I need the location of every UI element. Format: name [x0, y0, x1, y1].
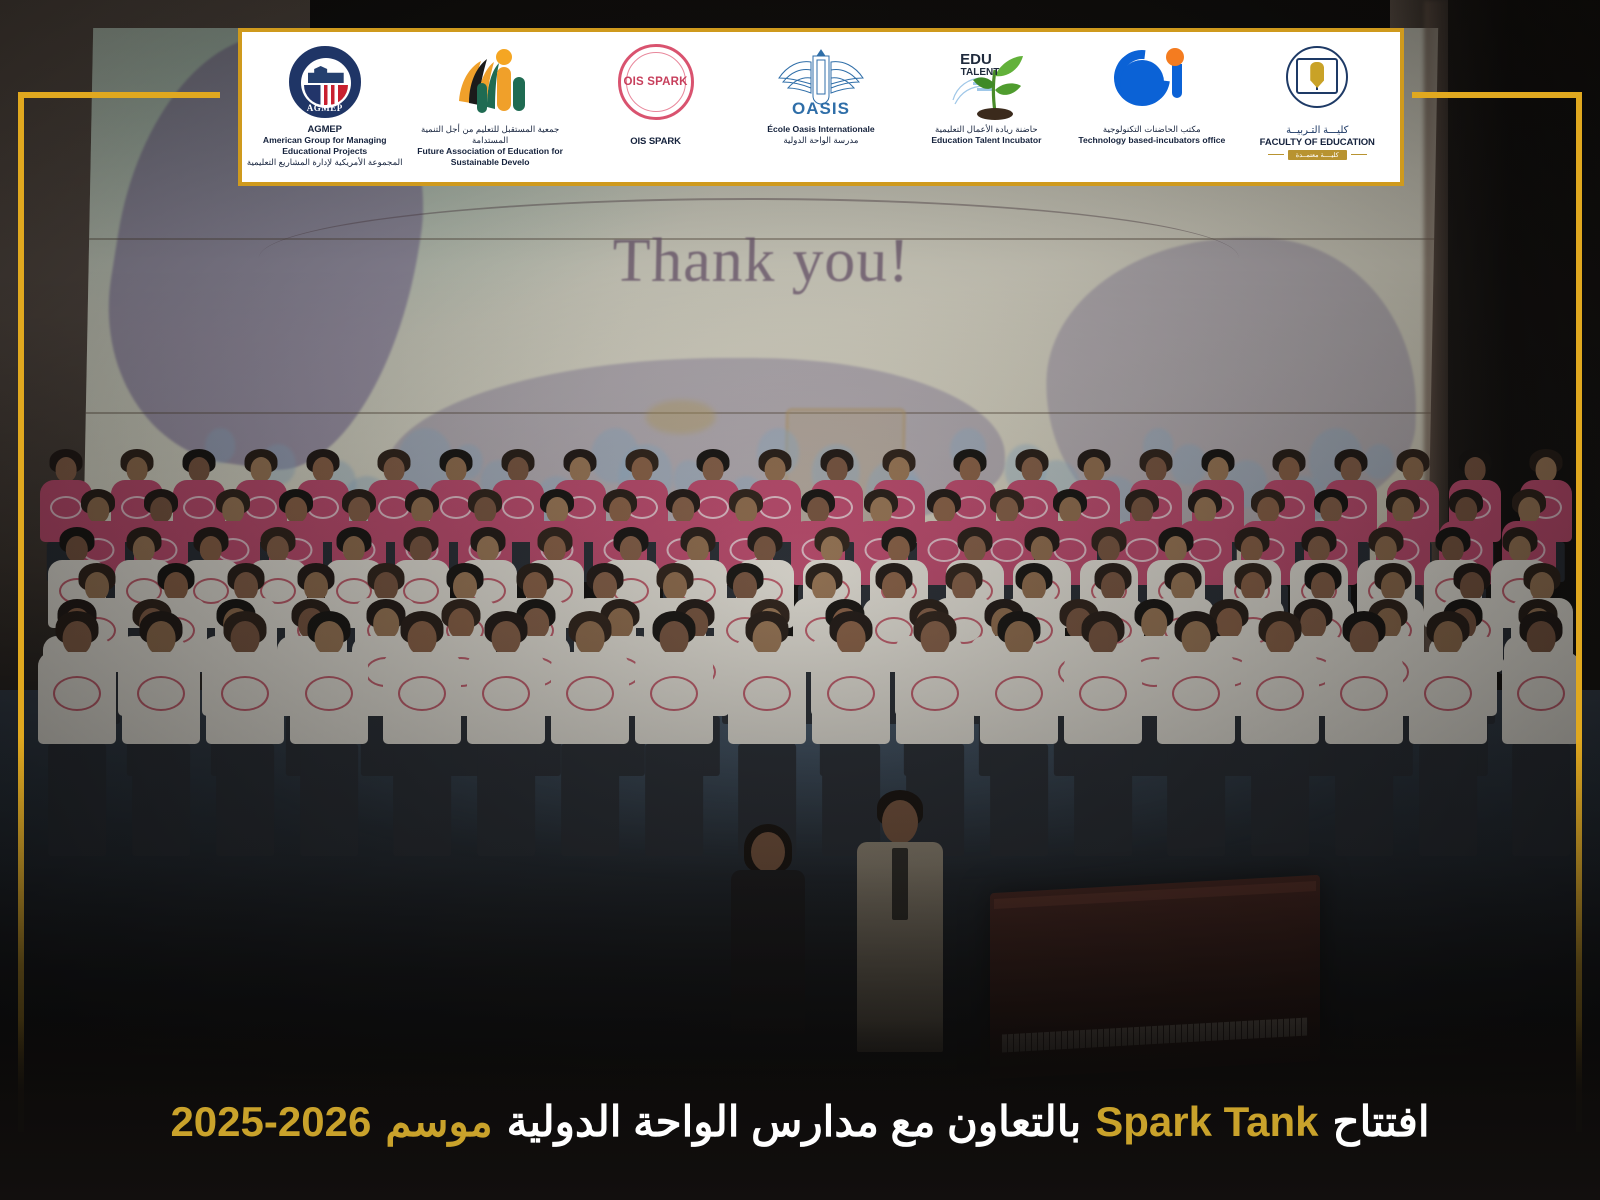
logo-caption-edu-talent: حاضنة ريادة الأعمال التعليمية Education …	[931, 124, 1041, 146]
tshirt-spark-logo	[995, 676, 1043, 711]
choir-member-head	[1381, 572, 1405, 601]
future-association-tree-icon	[447, 42, 533, 122]
choir-member-head	[882, 572, 906, 601]
caption-seg-2: بالتعاون مع مدارس الواحة الدولية	[507, 1098, 1082, 1145]
choir-member-head	[735, 497, 757, 523]
choir-member-legs	[990, 744, 1048, 856]
choir-member-head	[632, 457, 653, 482]
choir-member-head	[960, 457, 981, 482]
choir-member-head	[1403, 457, 1424, 482]
choir-member-head	[1005, 621, 1034, 655]
frame-left-vertical	[18, 92, 24, 1132]
tshirt-spark-logo	[398, 676, 446, 711]
choir-member-legs	[1167, 744, 1225, 856]
future-association-name-en: Future Association of Education for Sust…	[411, 146, 568, 167]
agmep-name-ar: المجموعة الأمريكية لإدارة المشاريع التعل…	[246, 157, 403, 168]
choir-member-head	[754, 536, 776, 563]
choir-member-head	[1146, 457, 1167, 482]
choir-member-head	[1434, 621, 1463, 655]
logo-caption-agmep: AGMEP American Group for Managing Educat…	[246, 124, 403, 168]
tshirt-spark-logo	[1172, 676, 1220, 711]
agmep-name-abbrev: AGMEP	[246, 124, 403, 135]
logo-item-agmep[interactable]: AGMEP AGMEP American Group for Managing …	[242, 32, 407, 182]
presenter-male	[848, 790, 952, 1052]
choir-member-head	[1518, 497, 1540, 523]
tshirt-spark-logo	[827, 676, 875, 711]
choir-member	[551, 614, 629, 854]
choir-member-legs	[1512, 744, 1570, 856]
choir-member-head	[1266, 621, 1295, 655]
choir-member-head	[964, 536, 986, 563]
logo-caption-technology-incubators: مكتب الحاضنات التكنولوجية Technology bas…	[1078, 124, 1225, 146]
choir-member-head	[1031, 536, 1053, 563]
logo-item-technology-incubators[interactable]: مكتب الحاضنات التكنولوجية Technology bas…	[1069, 32, 1234, 182]
choir-member-legs	[1419, 744, 1477, 856]
choir-member-head	[446, 457, 467, 482]
choir-member-head	[474, 497, 496, 523]
choir-member-head	[189, 457, 210, 482]
choir-member	[467, 614, 545, 854]
choir-member-head	[663, 572, 687, 601]
choir-member-head	[576, 621, 605, 655]
oasis-name-ar: مدرسة الواحة الدولية	[767, 135, 874, 146]
choir-member	[1064, 614, 1142, 854]
tshirt-spark-logo	[566, 676, 614, 711]
tshirt-spark-logo	[1340, 676, 1388, 711]
ois-spark-mark-text: OIS SPARK	[623, 76, 687, 88]
choir-member-head	[523, 572, 547, 601]
choir-member-head	[453, 572, 477, 601]
choir-member-legs	[477, 744, 535, 856]
choir-member-legs	[1335, 744, 1393, 856]
choir-member-head	[888, 536, 910, 563]
choir-member-head	[1208, 457, 1229, 482]
technology-incubators-circle-icon	[1112, 42, 1192, 122]
choir-member-head	[267, 536, 289, 563]
choir-member-head	[1536, 457, 1557, 482]
sponsor-logo-bar: AGMEP AGMEP American Group for Managing …	[238, 28, 1404, 186]
svg-text:EDU: EDU	[961, 51, 993, 68]
choir-member-legs	[1251, 744, 1309, 856]
choir-member-legs	[645, 744, 703, 856]
choir-member-head	[411, 497, 433, 523]
choir-member	[290, 614, 368, 854]
choir-member	[38, 614, 116, 854]
choir-member-head	[952, 572, 976, 601]
tshirt-spark-logo	[650, 676, 698, 711]
choir-member-head	[285, 497, 307, 523]
choir-member-head	[1131, 497, 1153, 523]
choir-member	[1157, 614, 1235, 854]
presenter-female-body	[731, 870, 805, 1034]
choir-member-head	[315, 621, 344, 655]
choir-member-head	[1442, 536, 1464, 563]
choir-member-head	[660, 621, 689, 655]
agmep-seal-icon: AGMEP	[289, 42, 361, 122]
choir-member-head	[546, 497, 568, 523]
choir-member-head	[807, 497, 829, 523]
frame-top-right-horizontal	[1412, 92, 1582, 98]
choir-member-head	[870, 497, 892, 523]
choir-member-head	[1392, 497, 1414, 523]
faculty-name-en: FACULTY OF EDUCATION	[1260, 137, 1375, 148]
choir-member	[980, 614, 1058, 854]
faculty-accreditation-badge: كليــــة معتمــدة	[1288, 150, 1347, 160]
tshirt-spark-logo	[305, 676, 353, 711]
presenter-female-head	[751, 832, 785, 872]
choir-member	[1241, 614, 1319, 854]
choir-member-head	[374, 572, 398, 601]
oasis-winged-icon: OASIS	[773, 42, 869, 122]
choir-member-head	[66, 536, 88, 563]
choir-member-head	[821, 536, 843, 563]
technology-incubators-name-en: Technology based-incubators office	[1078, 135, 1225, 146]
choir-member-head	[508, 457, 529, 482]
choir-member-head	[234, 572, 258, 601]
choir-member-head	[127, 457, 148, 482]
ois-spark-name-en: OIS SPARK	[630, 136, 681, 147]
choir-member-legs	[561, 744, 619, 856]
logo-caption-faculty-of-education: كليـــة التـربيــة FACULTY OF EDUCATION …	[1260, 124, 1375, 160]
edu-talent-sapling-icon: EDU TALENT	[943, 42, 1029, 122]
choir-member-head	[1320, 497, 1342, 523]
choir-member-head	[150, 497, 172, 523]
oasis-name-en: École Oasis Internationale	[767, 124, 874, 135]
choir-member-head	[1257, 497, 1279, 523]
choir-member-head	[164, 572, 188, 601]
choir-member-legs	[216, 744, 274, 856]
choir-member	[122, 614, 200, 854]
choir-member-head	[1089, 621, 1118, 655]
tshirt-spark-logo	[911, 676, 959, 711]
faculty-badge-rule: كليــــة معتمــدة	[1260, 148, 1375, 160]
choir-member-head	[1279, 457, 1300, 482]
choir-member-head	[1022, 457, 1043, 482]
choir-member	[728, 614, 806, 854]
choir-member-head	[231, 621, 260, 655]
choir-member-head	[609, 497, 631, 523]
choir-member-head	[1182, 621, 1211, 655]
choir-member-legs	[132, 744, 190, 856]
faculty-of-education-book-icon	[1280, 42, 1354, 122]
logo-item-oasis[interactable]: OASIS École Oasis Internationale مدرسة ا…	[738, 32, 903, 182]
choir-member-head	[687, 536, 709, 563]
logo-caption-oasis: École Oasis Internationale مدرسة الواحة …	[767, 124, 874, 146]
choir-member-head	[593, 572, 617, 601]
tshirt-spark-logo	[137, 676, 185, 711]
choir-member-head	[1465, 457, 1486, 482]
choir-member-head	[544, 536, 566, 563]
choir-member-head	[348, 497, 370, 523]
choir-member	[383, 614, 461, 854]
choir-member-head	[1171, 572, 1195, 601]
tshirt-spark-logo	[1079, 676, 1127, 711]
tshirt-spark-logo	[221, 676, 269, 711]
technology-incubators-name-ar: مكتب الحاضنات التكنولوجية	[1078, 124, 1225, 135]
choir-member-head	[200, 536, 222, 563]
choir-member-head	[889, 457, 910, 482]
choir-member-head	[1375, 536, 1397, 563]
frame-top-left-horizontal	[18, 92, 220, 98]
logo-item-faculty-of-education[interactable]: كليـــة التـربيــة FACULTY OF EDUCATION …	[1235, 32, 1400, 182]
choir-member-head	[921, 621, 950, 655]
tshirt-spark-logo	[482, 676, 530, 711]
choir-member-head	[1241, 572, 1265, 601]
choir-member-legs	[393, 744, 451, 856]
choir-member-head	[1527, 621, 1556, 655]
ois-spark-ring-icon: OIS SPARK	[618, 42, 694, 122]
caption-seg-0: افتتاح	[1333, 1098, 1430, 1145]
choir-member-head	[1308, 536, 1330, 563]
choir-member-head	[733, 572, 757, 601]
choir-member-head	[837, 621, 866, 655]
choir-member-head	[1311, 572, 1335, 601]
frame-right-vertical	[1576, 92, 1582, 1132]
choir-member-head	[1460, 572, 1484, 601]
tshirt-spark-logo	[1424, 676, 1472, 711]
agmep-name-en: American Group for Managing Educational …	[246, 135, 403, 156]
caption-seg-4: 2026-2025	[170, 1098, 371, 1145]
poster-root: Thank you!	[0, 0, 1600, 1200]
logo-caption-future-association: جمعية المستقبل للتعليم من أجل التنمية ال…	[411, 124, 568, 168]
choir-member-head	[996, 497, 1018, 523]
choir-member-head	[827, 457, 848, 482]
choir-member	[1502, 614, 1580, 854]
choir-member	[1409, 614, 1487, 854]
svg-text:TALENT: TALENT	[961, 67, 1000, 78]
choir-member-legs	[300, 744, 358, 856]
caption-seg-1: Spark Tank	[1095, 1098, 1318, 1145]
choir-member-head	[1098, 536, 1120, 563]
logo-caption-ois-spark: OIS SPARK	[630, 124, 681, 147]
choir-member-head	[384, 457, 405, 482]
tshirt-spark-logo	[1256, 676, 1304, 711]
choir-member-head	[672, 497, 694, 523]
choir-member-head	[812, 572, 836, 601]
future-association-name-ar: جمعية المستقبل للتعليم من أجل التنمية ال…	[411, 124, 568, 146]
presenter-female	[722, 824, 814, 1034]
tshirt-spark-logo	[53, 676, 101, 711]
choir-member-head	[1101, 572, 1125, 601]
choir-member	[635, 614, 713, 854]
faculty-name-ar: كليـــة التـربيــة	[1260, 124, 1375, 137]
choir-member-head	[1530, 572, 1554, 601]
presenter-male-head	[882, 800, 918, 844]
choir-member-head	[1241, 536, 1263, 563]
edu-talent-name-en: Education Talent Incubator	[931, 135, 1041, 146]
svg-text:OASIS: OASIS	[792, 99, 850, 118]
choir-member-head	[570, 457, 591, 482]
choir-member-head	[1059, 497, 1081, 523]
choir-member-head	[1455, 497, 1477, 523]
edu-talent-name-ar: حاضنة ريادة الأعمال التعليمية	[931, 124, 1041, 135]
choir-member-head	[133, 536, 155, 563]
choir-member-head	[620, 536, 642, 563]
logo-item-future-association[interactable]: جمعية المستقبل للتعليم من أجل التنمية ال…	[407, 32, 572, 182]
agmep-seal-text: AGMEP	[290, 103, 360, 113]
choir-member-head	[410, 536, 432, 563]
choir-member-head	[477, 536, 499, 563]
choir-member-head	[222, 497, 244, 523]
choir-member-head	[87, 497, 109, 523]
choir-member-head	[408, 621, 437, 655]
logo-item-edu-talent[interactable]: EDU TALENT حاضنة ريادة الأعمال التعليمية…	[904, 32, 1069, 182]
choir-member-legs	[48, 744, 106, 856]
choir-member-head	[1194, 497, 1216, 523]
choir-member-head	[1350, 621, 1379, 655]
choir-member-head	[933, 497, 955, 523]
choir-member	[1325, 614, 1403, 854]
choir-member-head	[304, 572, 328, 601]
logo-item-ois-spark[interactable]: OIS SPARK OIS SPARK	[573, 32, 738, 182]
choir-member-head	[343, 536, 365, 563]
choir-member-head	[703, 457, 724, 482]
presenter-male-tie	[892, 848, 908, 920]
choir-member-head	[147, 621, 176, 655]
choir-member-head	[1084, 457, 1105, 482]
choir-member-head	[492, 621, 521, 655]
choir-member-head	[1509, 536, 1531, 563]
choir-member-head	[1341, 457, 1362, 482]
caption-seg-3: موسم	[385, 1098, 492, 1145]
choir-member-head	[63, 621, 92, 655]
choir-member-head	[251, 457, 272, 482]
choir-member-head	[765, 457, 786, 482]
choir-member-head	[1022, 572, 1046, 601]
choir-member	[206, 614, 284, 854]
choir-member-head	[313, 457, 334, 482]
choir-member-head	[56, 457, 77, 482]
tshirt-spark-logo	[1517, 676, 1565, 711]
choir-member-legs	[1074, 744, 1132, 856]
poster-caption: افتتاحSpark Tankبالتعاون مع مدارس الواحة…	[0, 1098, 1600, 1146]
tshirt-spark-logo	[743, 676, 791, 711]
choir-member-head	[85, 572, 109, 601]
choir-member-head	[1165, 536, 1187, 563]
choir-member-head	[753, 621, 782, 655]
